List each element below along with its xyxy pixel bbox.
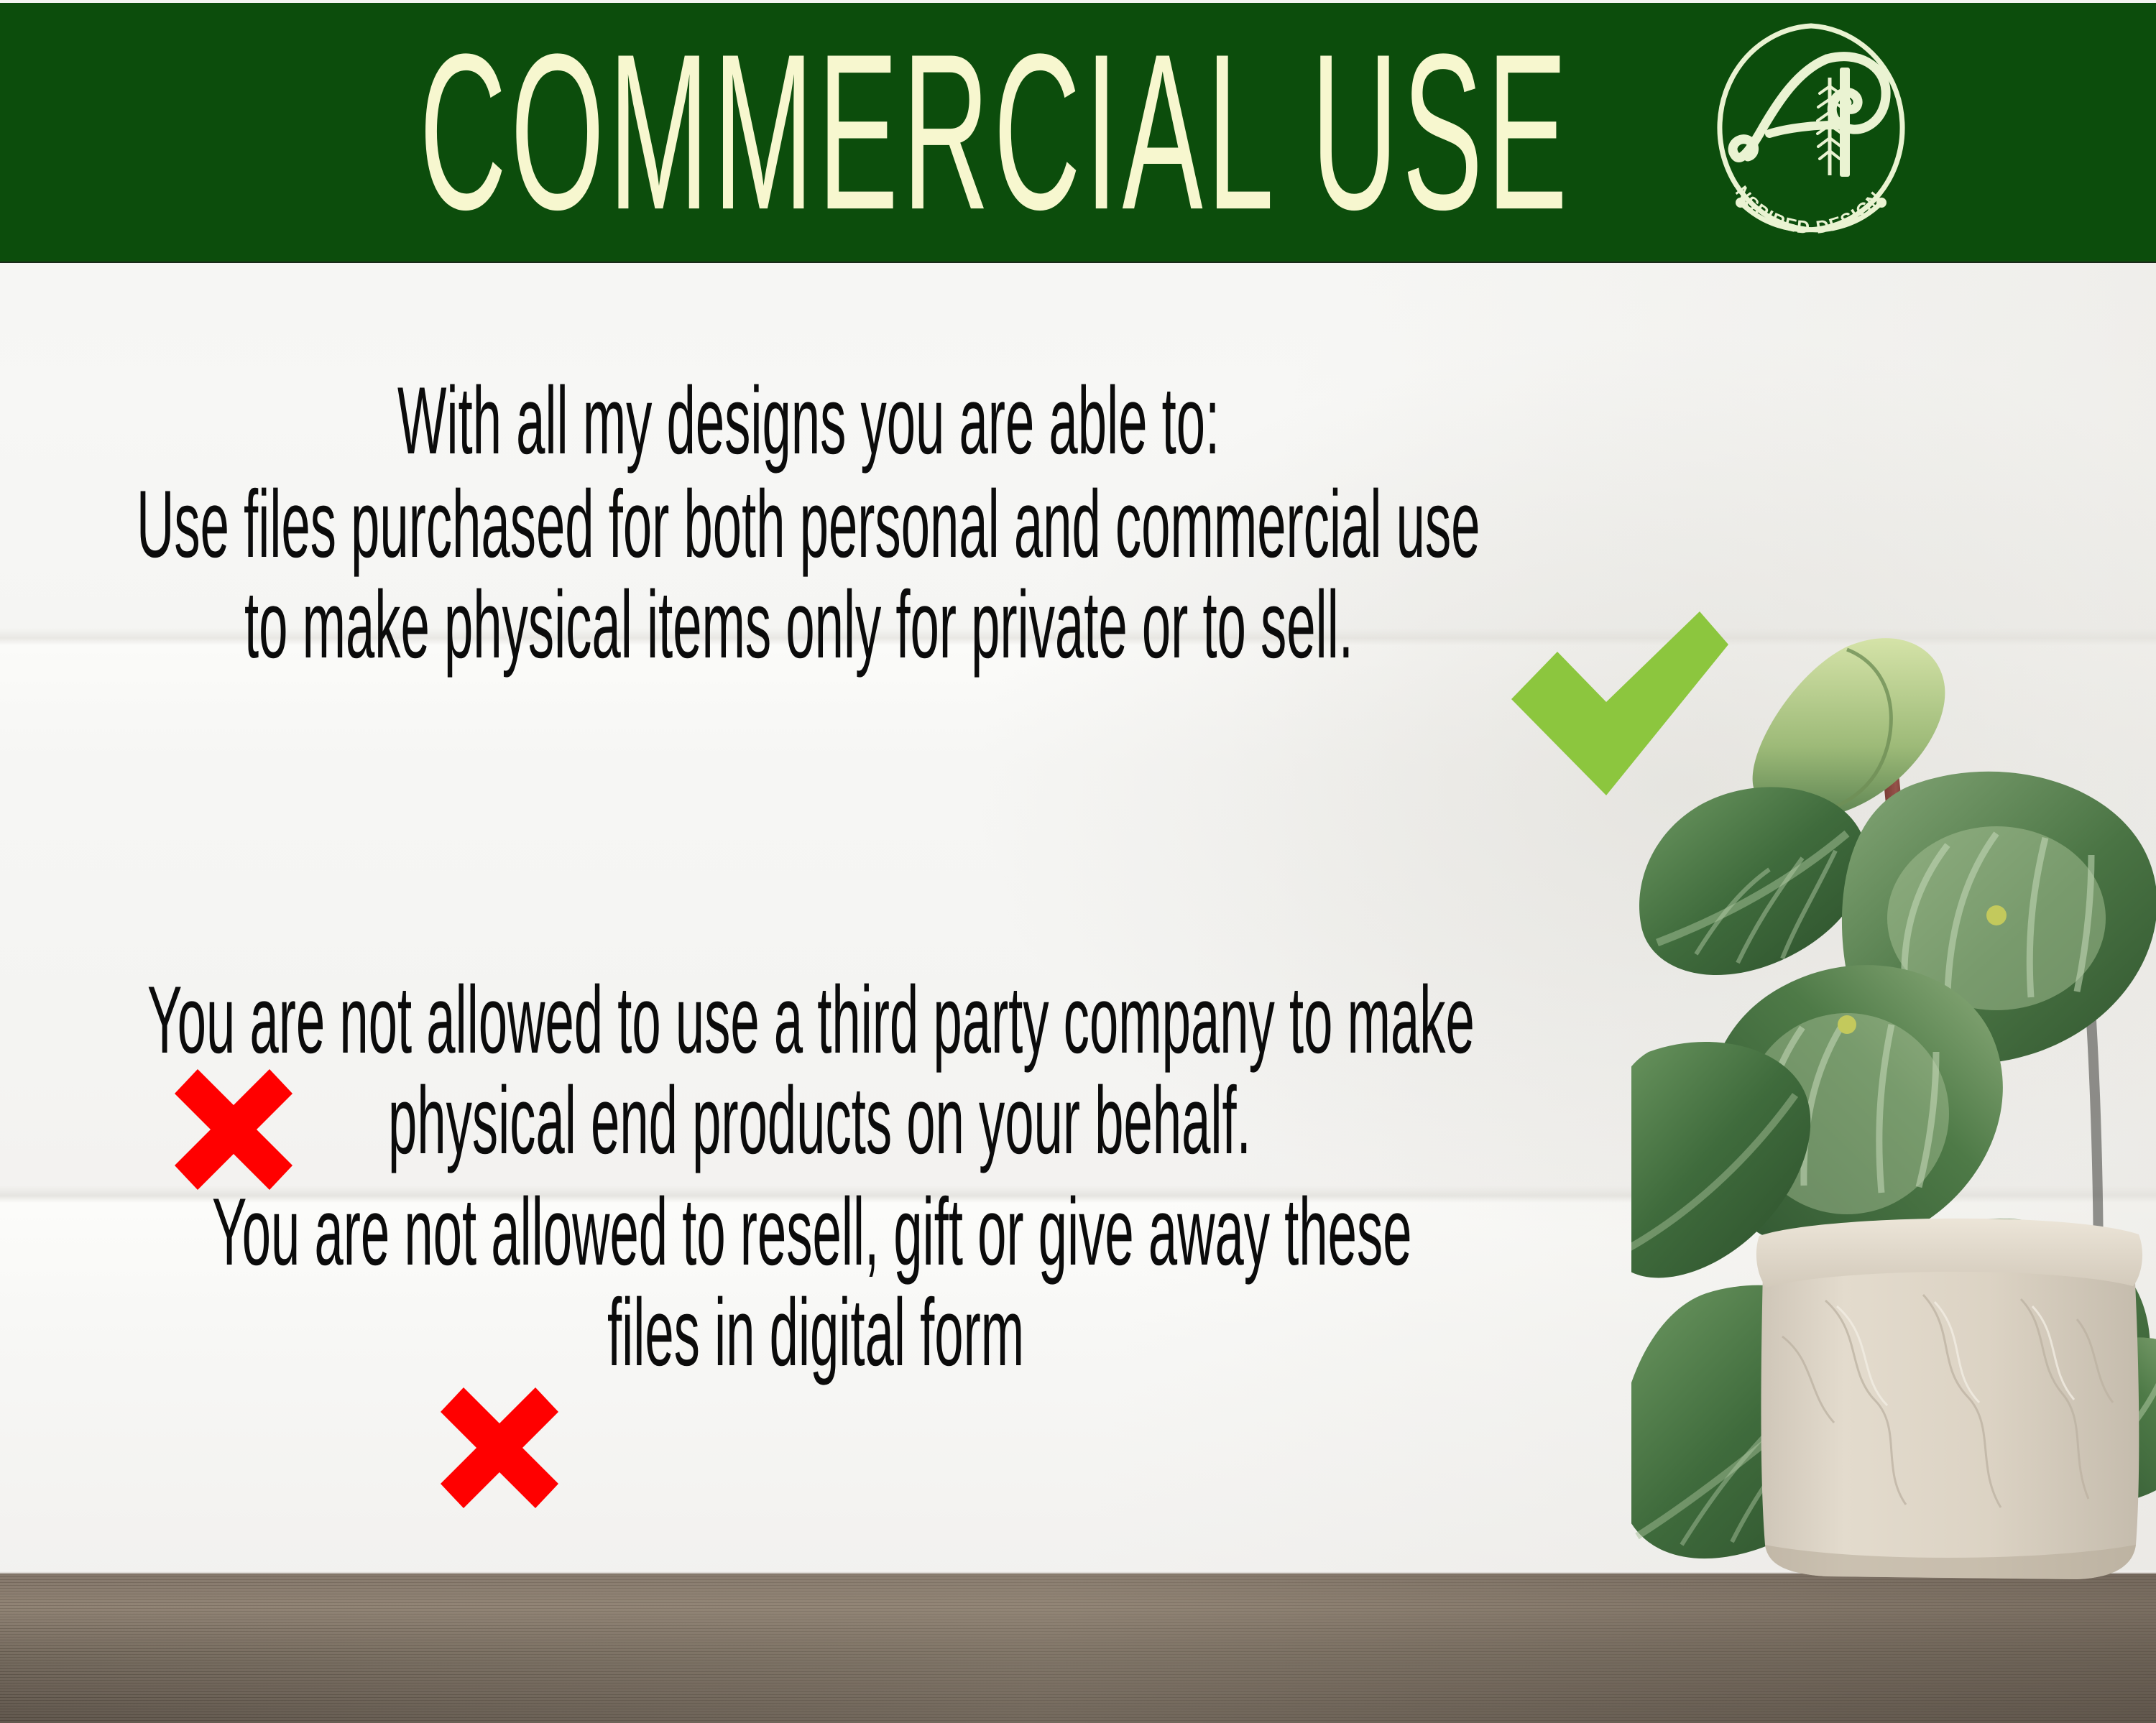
not-allowed-line-3: You are not allowed to resell, gift or g… xyxy=(212,1185,1411,1280)
red-cross-icon xyxy=(169,1065,298,1194)
terms-copy: With all my designs you are able to: Use… xyxy=(0,262,2156,1579)
not-allowed-line-1: You are not allowed to use a third party… xyxy=(147,973,1475,1068)
allowed-line-1: Use files purchased for both personal an… xyxy=(137,477,1480,573)
red-cross-icon xyxy=(435,1383,564,1512)
green-check-icon xyxy=(1491,607,1728,801)
page-title: COMMERCIAL USE xyxy=(648,9,1344,254)
not-allowed-line-4: files in digital form xyxy=(607,1285,1024,1381)
allowed-line-2: to make physical items only for private … xyxy=(244,578,1353,673)
commercial-use-graphic: COMMERCIAL USE xyxy=(0,0,2156,1723)
wood-shelf-surface xyxy=(0,1574,2156,1723)
brand-logo: INSPIRED DESIGNS xyxy=(1703,14,1919,244)
not-allowed-line-2: physical end products on your behalf. xyxy=(388,1073,1251,1169)
allowed-heading: With all my designs you are able to: xyxy=(397,374,1220,469)
